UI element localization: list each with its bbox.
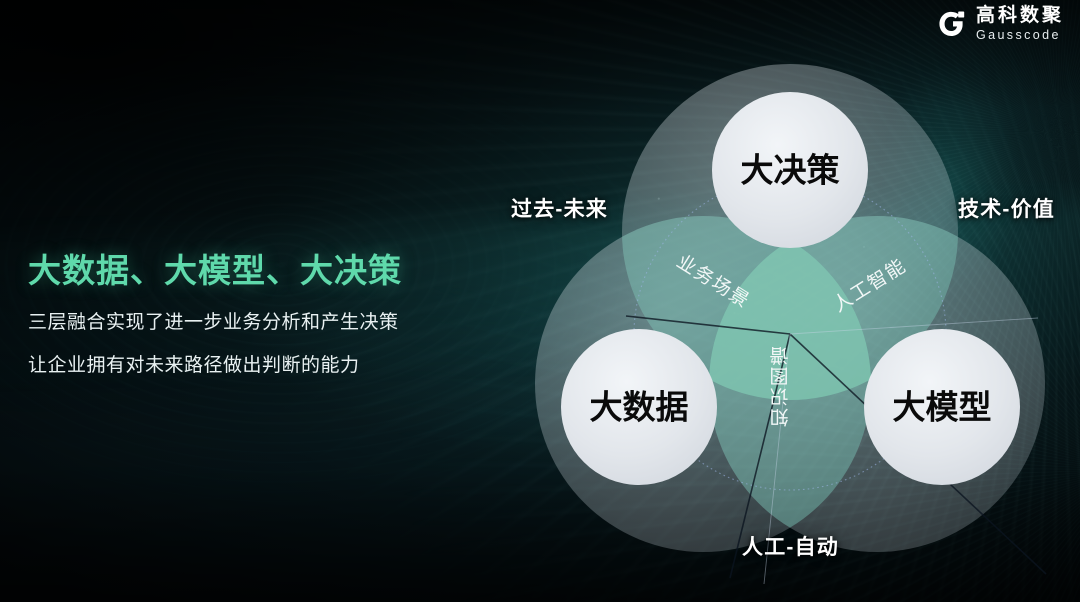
logo-name-en: Gausscode bbox=[976, 29, 1061, 42]
logo-wordmark: 高科数聚 Gausscode bbox=[976, 6, 1064, 42]
page-title: 大数据、大模型、大决策 bbox=[28, 250, 498, 291]
venn-label-right: 大模型 bbox=[893, 389, 992, 426]
subtitle-line-2: 让企业拥有对未来路径做出判断的能力 bbox=[28, 352, 498, 381]
logo-name-cn: 高科数聚 bbox=[976, 6, 1064, 25]
axis-caption-right: 技术-价值 bbox=[958, 193, 1055, 223]
venn-label-left: 大数据 bbox=[590, 389, 689, 426]
venn-intersection-label-knowledge-graph: 知识图谱 bbox=[770, 345, 792, 427]
gausscode-logo-mark bbox=[937, 9, 967, 39]
venn-label-top: 大决策 bbox=[741, 152, 840, 189]
venn-diagram: 大决策 大数据 大模型 业务场景 人工智能 知识图谱 bbox=[498, 18, 1080, 602]
axis-caption-left: 过去-未来 bbox=[511, 193, 608, 223]
axis-caption-bottom: 人工-自动 bbox=[742, 531, 839, 561]
subtitle-line-1: 三层融合实现了进一步业务分析和产生决策 bbox=[28, 309, 498, 338]
slide-canvas: 高科数聚 Gausscode 大数据、大模型、大决策 三层融合实现了进一步业务分… bbox=[0, 0, 1080, 602]
brand-logo: 高科数聚 Gausscode bbox=[937, 6, 1064, 42]
copy-block: 大数据、大模型、大决策 三层融合实现了进一步业务分析和产生决策 让企业拥有对未来… bbox=[28, 250, 498, 380]
